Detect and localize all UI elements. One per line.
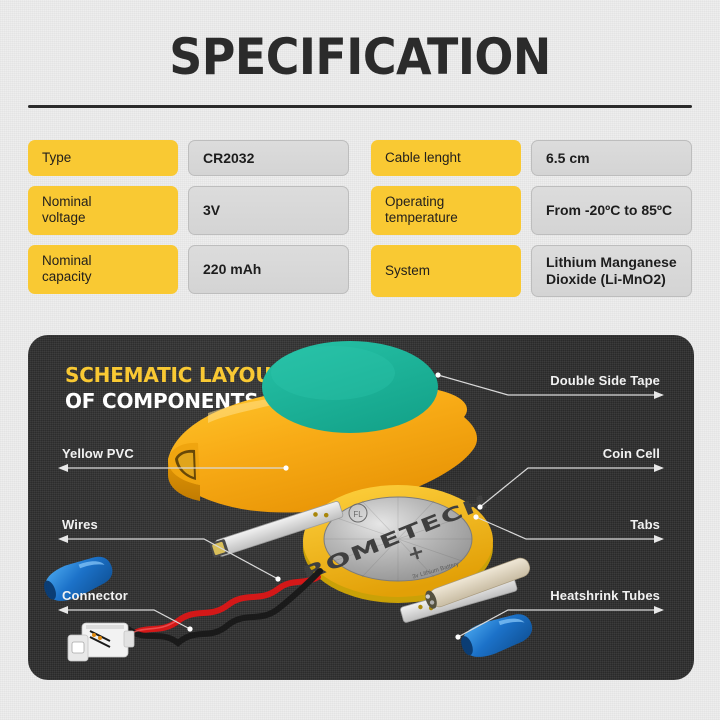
- callout-label-wires: Wires: [62, 517, 98, 532]
- callout-label-connector: Connector: [62, 588, 128, 603]
- double-side-tape: [262, 341, 438, 433]
- page-title: SPECIFICATION: [0, 32, 720, 82]
- callout-label-heatshrink-tubes: Heatshrink Tubes: [550, 588, 660, 603]
- table-row: System Lithium Manganese Dioxide (Li-MnO…: [371, 245, 692, 297]
- table-row: Cable lenght 6.5 cm: [371, 140, 692, 176]
- spec-value: From -20ºC to 85ºC: [531, 186, 692, 235]
- table-row: Nominalvoltage 3V: [28, 186, 349, 235]
- callout-label-tabs: Tabs: [630, 517, 660, 532]
- table-row: Type CR2032: [28, 140, 349, 176]
- spec-value: 3V: [188, 186, 349, 235]
- specification-table: Type CR2032 Nominalvoltage 3V Nominalcap…: [28, 140, 692, 297]
- spec-column-left: Type CR2032 Nominalvoltage 3V Nominalcap…: [28, 140, 349, 297]
- svg-text:FL: FL: [353, 510, 363, 519]
- spec-column-right: Cable lenght 6.5 cm Operatingtemperature…: [371, 140, 692, 297]
- spec-key: Nominalvoltage: [28, 186, 178, 235]
- spec-key: Type: [28, 140, 178, 176]
- schematic-panel: SCHEMATIC LAYOUT OF COMPONENTS: [28, 335, 694, 680]
- spec-value: 6.5 cm: [531, 140, 692, 176]
- spec-key: Operatingtemperature: [371, 186, 521, 235]
- spec-key: Cable lenght: [371, 140, 521, 176]
- jst-connector: [68, 623, 134, 661]
- callout-label-double-side-tape: Double Side Tape: [550, 373, 660, 388]
- callout-label-coin-cell: Coin Cell: [603, 446, 660, 461]
- spec-value: CR2032: [188, 140, 349, 176]
- callout-label-yellow-pvc: Yellow PVC: [62, 446, 134, 461]
- spec-value: 220 mAh: [188, 245, 349, 294]
- title-divider: [28, 105, 692, 108]
- spec-key: System: [371, 245, 521, 297]
- connector-boot-lower: [457, 607, 537, 663]
- spec-value: Lithium Manganese Dioxide (Li-MnO2): [531, 245, 692, 297]
- spec-key: Nominalcapacity: [28, 245, 178, 294]
- wires-twisted-pair: [128, 571, 320, 643]
- table-row: Operatingtemperature From -20ºC to 85ºC: [371, 186, 692, 235]
- table-row: Nominalcapacity 220 mAh: [28, 245, 349, 294]
